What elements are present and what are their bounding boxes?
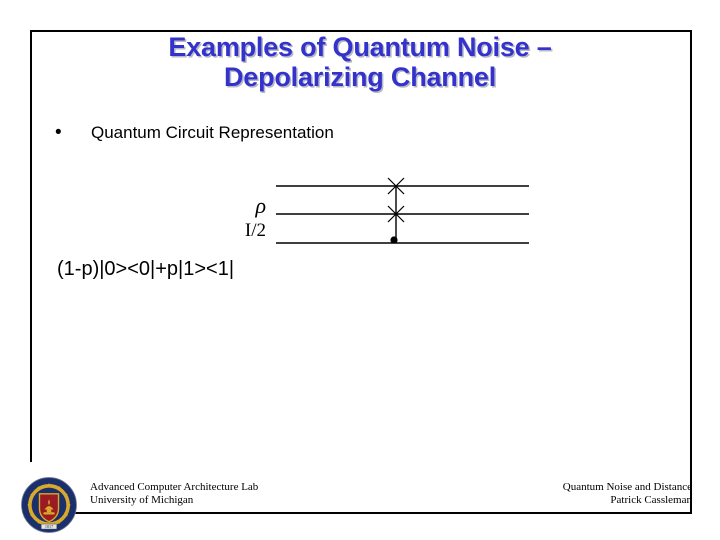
footer-left-line-2: University of Michigan — [90, 494, 258, 507]
input-state-label: ρ — [200, 194, 266, 218]
control-dot-wire-3-icon — [390, 236, 397, 243]
density-operator-formula: (1-p)|0><0|+p|1><1| — [57, 257, 234, 281]
footer-right-line-1: Quantum Noise and Distance — [563, 481, 692, 494]
footer-left: Advanced Computer Architecture Lab Unive… — [90, 481, 258, 507]
seal-year-label: 1817 — [45, 524, 53, 529]
university-of-michigan-seal-icon: 1817 — [21, 477, 77, 533]
ancilla-state-label: I/2 — [200, 220, 266, 242]
footer-right: Quantum Noise and Distance Patrick Cassl… — [563, 481, 692, 507]
footer-left-line-1: Advanced Computer Architecture Lab — [90, 481, 258, 494]
footer-right-line-2: Patrick Cassleman — [563, 494, 692, 507]
